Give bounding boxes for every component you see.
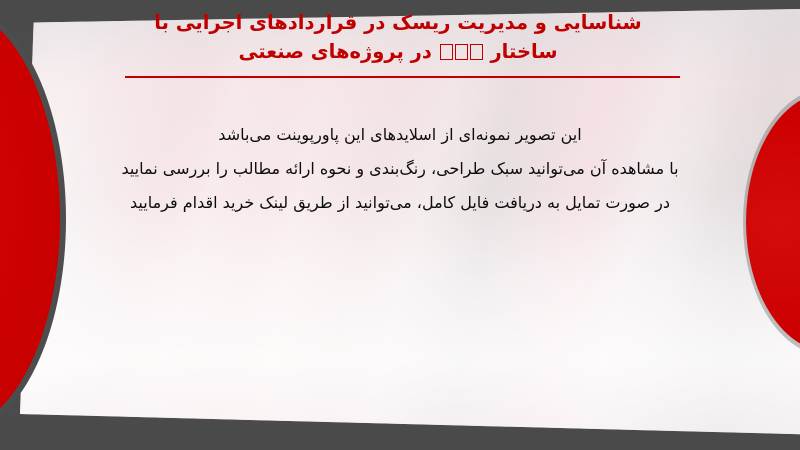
- missing-glyph-group: [439, 40, 484, 63]
- body-line-1: این تصویر نمونه‌ای از اسلایدهای این پاور…: [70, 118, 730, 152]
- body-line-2: با مشاهده آن می‌توانید سبک طراحی، رنگ‌بن…: [70, 152, 730, 186]
- missing-glyph-box: [455, 44, 468, 60]
- missing-glyph-box: [470, 44, 483, 60]
- slide-content-panel-edge: [0, 0, 800, 450]
- body-line-3: در صورت تمایل به دریافت فایل کامل، می‌تو…: [70, 186, 730, 220]
- title-underline-rule: [125, 76, 680, 78]
- title-line-2-suffix: در پروژه‌های صنعتی: [239, 40, 432, 63]
- title-line-2-prefix: ساختار: [490, 40, 557, 63]
- title-line-1: شناسایی و مدیریت ریسک در قراردادهای اجرا…: [58, 8, 738, 37]
- slide-body-text: این تصویر نمونه‌ای از اسلایدهای این پاور…: [70, 118, 730, 220]
- missing-glyph-box: [440, 44, 453, 60]
- slide-title: شناسایی و مدیریت ریسک در قراردادهای اجرا…: [58, 8, 738, 66]
- presentation-slide: شناسایی و مدیریت ریسک در قراردادهای اجرا…: [0, 0, 800, 450]
- title-line-2: ساختار در پروژه‌های صنعتی: [58, 37, 738, 66]
